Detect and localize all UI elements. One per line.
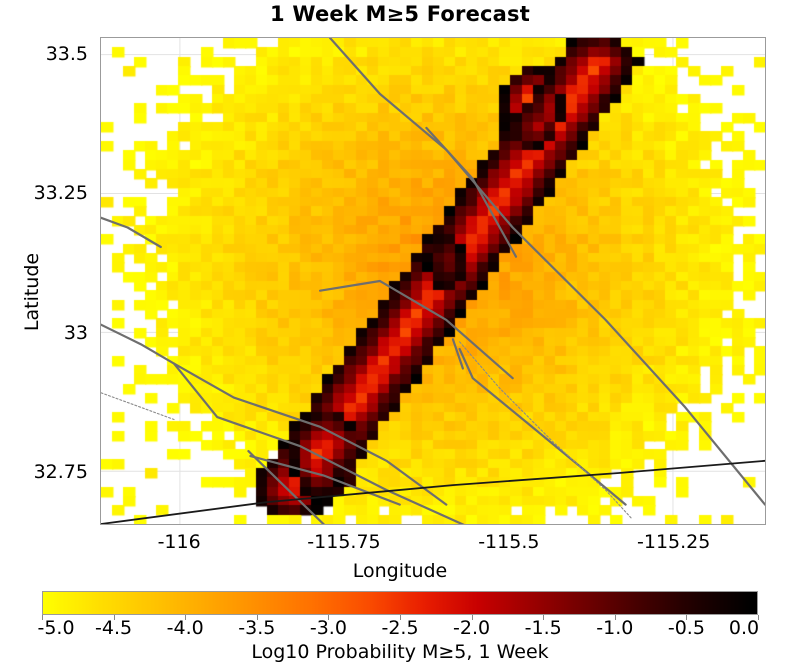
colorbar-label: Log10 Probability M≥5, 1 Week: [0, 641, 800, 663]
colorbar[interactable]: [42, 591, 758, 615]
x-tick-label: -116: [158, 531, 201, 553]
colorbar-tick-label: -0.5: [668, 617, 705, 639]
colorbar-tick-label: -3.5: [238, 617, 275, 639]
x-tick-label: -115.75: [307, 531, 380, 553]
colorbar-tick-label: -1.5: [525, 617, 562, 639]
colorbar-tick-label: -2.5: [381, 617, 418, 639]
x-tick-label: -115.25: [637, 531, 710, 553]
colorbar-tick-label: -2.0: [453, 617, 490, 639]
colorbar-tick-label: 0.0: [729, 617, 759, 639]
colorbar-tick-label: -1.0: [596, 617, 633, 639]
colorbar-tick-label: -4.0: [167, 617, 204, 639]
colorbar-tick-label: -3.0: [310, 617, 347, 639]
colorbar-tick-label: -4.5: [95, 617, 132, 639]
x-axis-label: Longitude: [0, 560, 800, 582]
colorbar-gradient: [42, 591, 758, 615]
colorbar-tick-labels: -5.0-4.5-4.0-3.5-3.0-2.5-2.0-1.5-1.0-0.5…: [42, 617, 758, 641]
x-tick-label: -115.5: [478, 531, 539, 553]
colorbar-tick-label: -5.0: [37, 617, 74, 639]
